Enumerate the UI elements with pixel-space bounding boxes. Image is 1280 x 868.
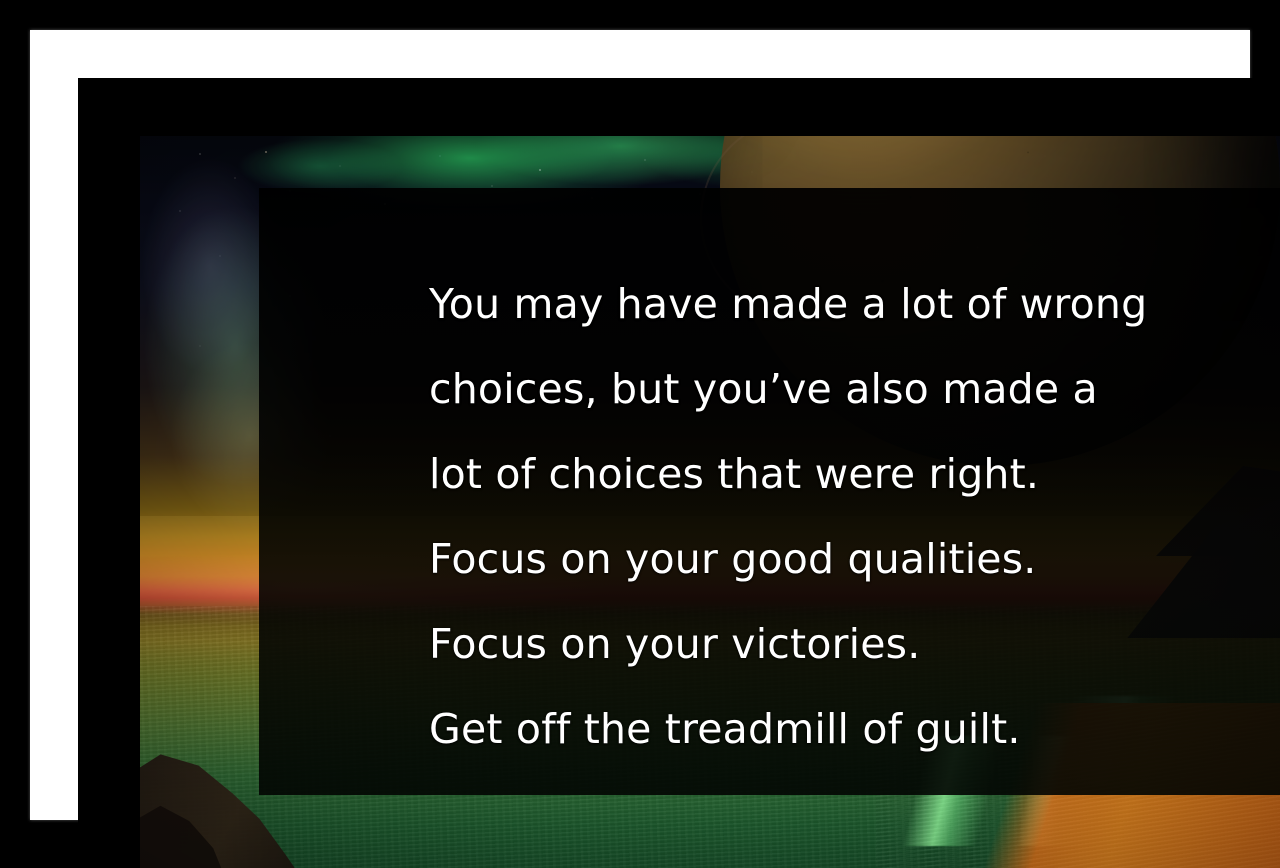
quote-line-6: Get off the treadmill of guilt. [429, 687, 1280, 772]
quote-line-3: lot of choices that were right. [429, 432, 1280, 517]
background-photo: You may have made a lot of wrong choices… [140, 136, 1280, 868]
quote-line-1: You may have made a lot of wrong [429, 262, 1280, 347]
quote-overlay-panel: You may have made a lot of wrong choices… [259, 188, 1280, 795]
quote-line-2: choices, but you’ve also made a [429, 347, 1280, 432]
quote-text-block: You may have made a lot of wrong choices… [429, 262, 1280, 772]
quote-line-5: Focus on your victories. [429, 602, 1280, 687]
quote-poster: You may have made a lot of wrong choices… [0, 0, 1280, 850]
inner-black-border: You may have made a lot of wrong choices… [78, 78, 1262, 832]
quote-line-4: Focus on your good qualities. [429, 517, 1280, 602]
white-mat-frame: You may have made a lot of wrong choices… [30, 30, 1250, 820]
